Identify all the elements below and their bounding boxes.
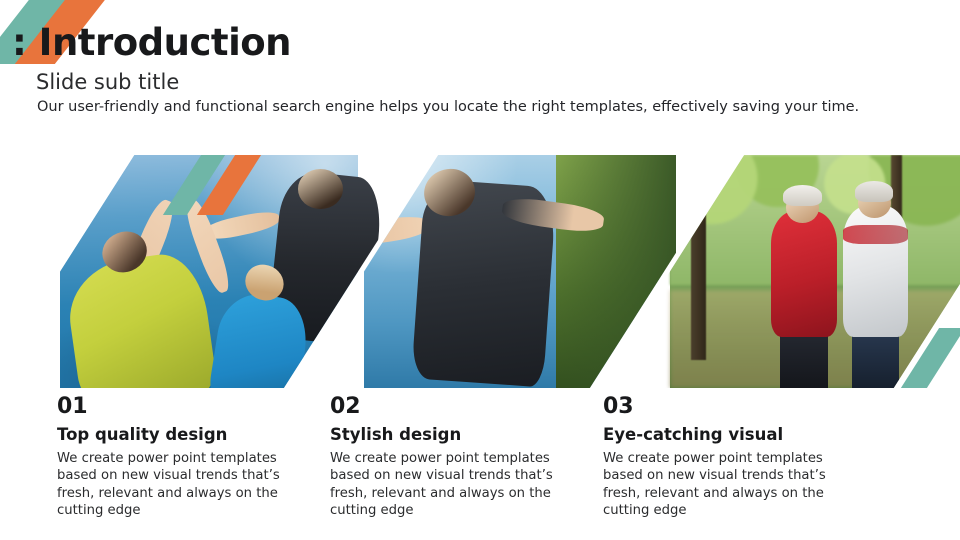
feature-body: We create power point templates based on… — [330, 450, 556, 520]
feature-number: 02 — [330, 396, 568, 418]
feature-title: Top quality design — [57, 427, 295, 444]
slide-subtitle: Slide sub title — [36, 72, 179, 93]
walker-two-jacket-stripe — [843, 225, 909, 244]
feature-body: We create power point templates based on… — [603, 450, 829, 520]
slide-description: Our user-friendly and functional search … — [37, 99, 859, 116]
walker-two-hair — [855, 181, 894, 202]
feature-title: Stylish design — [330, 427, 568, 444]
feature-title: Eye-catching visual — [603, 427, 841, 444]
athlete-three-head — [298, 169, 343, 209]
feature-item-03: 03 Eye-catching visual We create power p… — [603, 396, 841, 520]
walker-one-jacket — [771, 211, 837, 337]
feature-item-01: 01 Top quality design We create power po… — [57, 396, 295, 520]
feature-item-02: 02 Stylish design We create power point … — [330, 396, 568, 520]
feature-body: We create power point templates based on… — [57, 450, 283, 520]
feature-number: 03 — [603, 396, 841, 418]
slide-canvas: : Introduction Slide sub title Our user-… — [0, 0, 960, 540]
feature-number: 01 — [57, 396, 295, 418]
walker-one-hair — [783, 185, 822, 206]
image-band — [0, 155, 960, 388]
page-title: : Introduction — [12, 24, 291, 61]
feature-columns: 01 Top quality design We create power po… — [0, 396, 960, 540]
slide-header: : Introduction Slide sub title Our user-… — [0, 0, 960, 150]
